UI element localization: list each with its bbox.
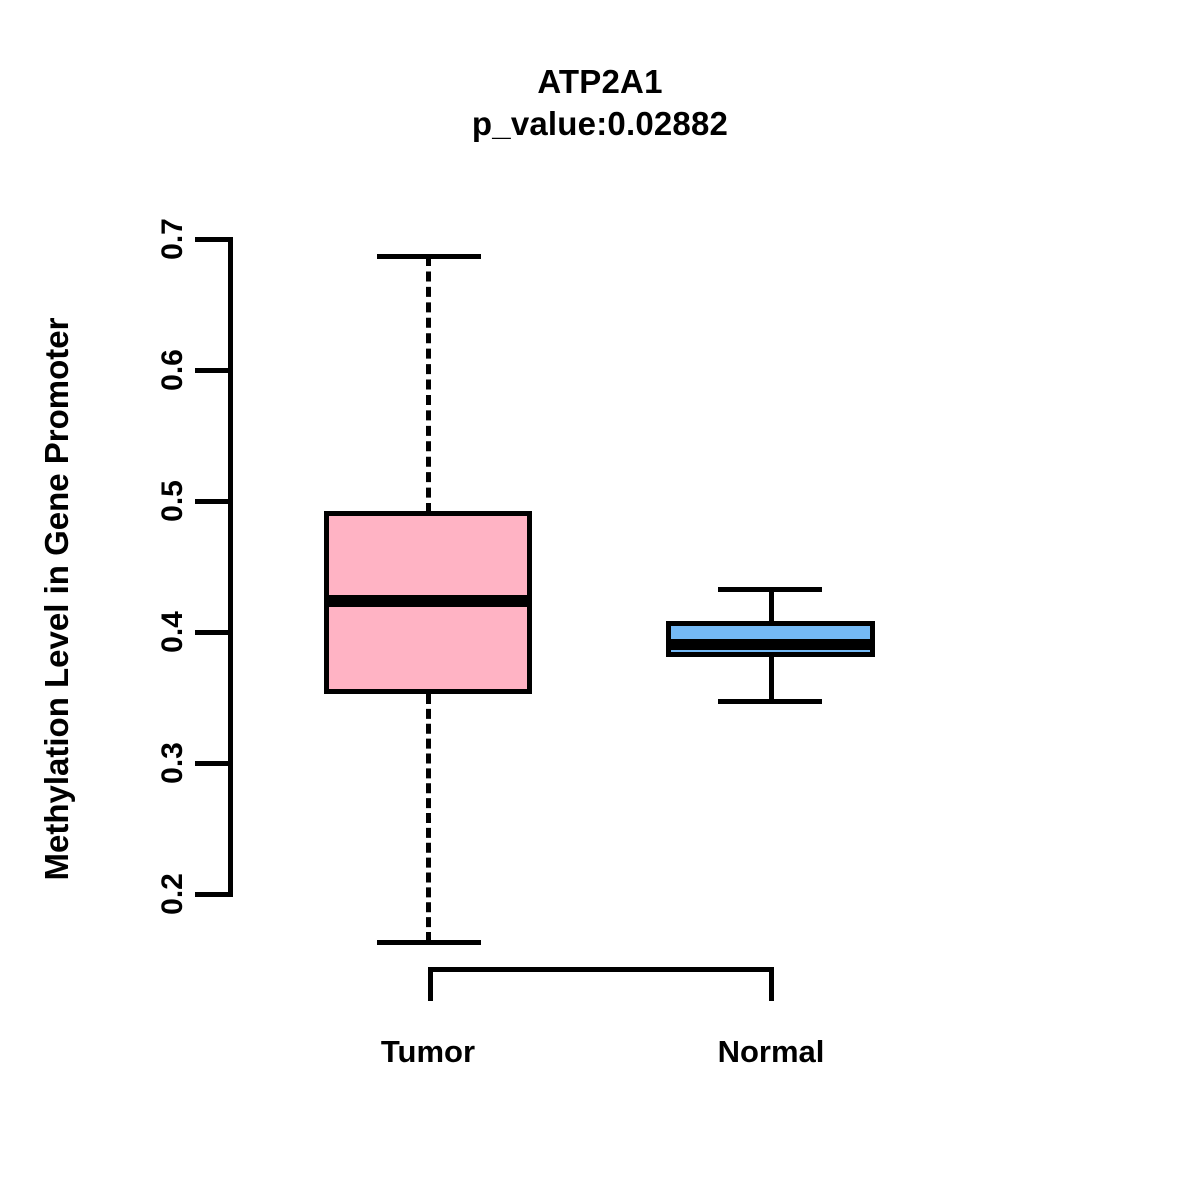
y-axis-line: [228, 237, 233, 894]
y-tick-label-4: 0.6: [156, 325, 190, 415]
x-tick-tumor: [428, 967, 433, 1001]
whisker-lower-normal: [769, 656, 774, 701]
y-tick-4: [195, 368, 233, 373]
y-tick-label-0: 0.2: [156, 849, 190, 939]
x-tick-label-normal: Normal: [671, 1034, 871, 1070]
y-tick-label-2: 0.4: [156, 587, 190, 677]
plot-area: 0.2 0.3 0.4 0.5 0.6 0.7 Tumor Normal: [0, 0, 1200, 1200]
whisker-lower-tumor: [426, 694, 431, 942]
y-tick-label-3: 0.5: [156, 456, 190, 546]
whisker-cap-lower-normal: [718, 699, 822, 704]
whisker-cap-upper-normal: [718, 587, 822, 592]
x-tick-normal: [769, 967, 774, 1001]
y-tick-0: [195, 892, 233, 897]
whisker-upper-normal: [769, 589, 774, 622]
whisker-cap-upper-tumor: [377, 254, 481, 259]
y-tick-5: [195, 237, 233, 242]
y-tick-label-1: 0.3: [156, 718, 190, 808]
y-tick-1: [195, 761, 233, 766]
boxplot-figure: ATP2A1 p_value:0.02882 Methylation Level…: [0, 0, 1200, 1200]
whisker-upper-tumor: [426, 256, 431, 513]
median-line-tumor: [324, 595, 532, 607]
median-line-normal: [666, 639, 875, 650]
y-tick-2: [195, 630, 233, 635]
y-tick-3: [195, 499, 233, 504]
x-axis-line: [428, 967, 774, 972]
x-tick-label-tumor: Tumor: [328, 1034, 528, 1070]
y-tick-label-5: 0.7: [156, 194, 190, 284]
whisker-cap-lower-tumor: [377, 940, 481, 945]
